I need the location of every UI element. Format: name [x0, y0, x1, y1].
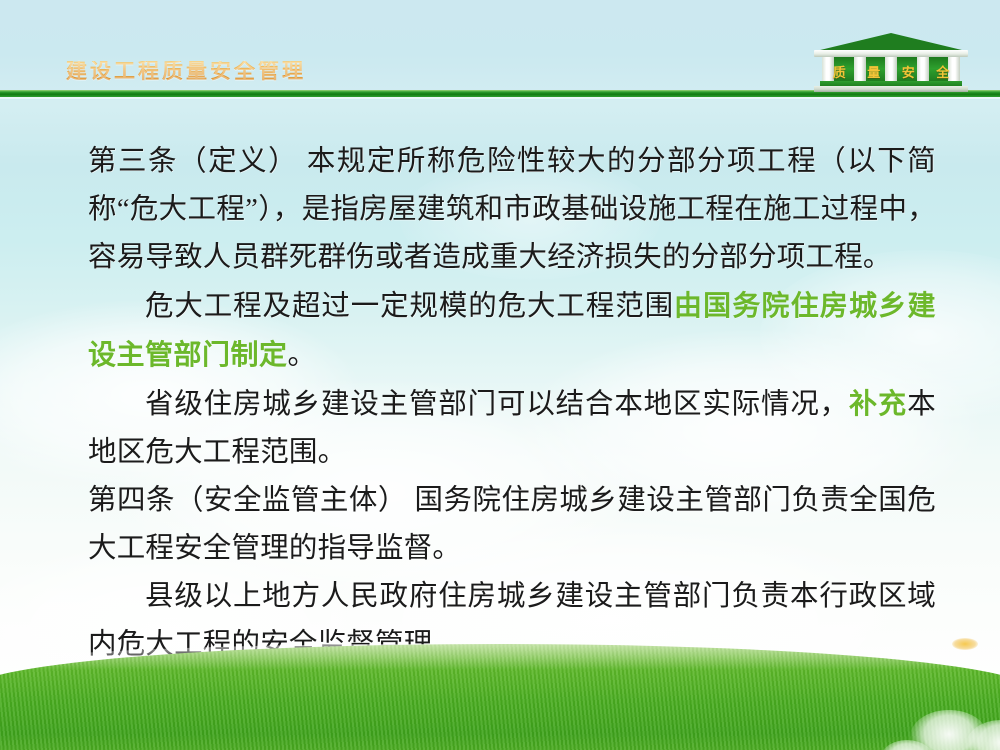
- emblem-char-1: 质: [833, 62, 846, 81]
- paragraph-provincial-supplement: 省级住房城乡建设主管部门可以结合本地区实际情况，补充本地区危大工程范围。: [88, 380, 936, 477]
- body-text: 。: [288, 340, 317, 371]
- paragraph-article-4: 第四条（安全监管主体） 国务院住房城乡建设主管部门负责全国危大工程安全管理的指导…: [88, 477, 936, 573]
- slide-body: 第三条（定义） 本规定所称危险性较大的分部分项工程（以下简称“危大工程”），是指…: [88, 138, 936, 669]
- body-text: 第三条（定义） 本规定所称危险性较大的分部分项工程（以下简称“危大工程”），是指…: [88, 146, 936, 273]
- quality-safety-emblem-icon: 质 量 安 全: [812, 33, 970, 95]
- emblem-roof-shape: [816, 33, 966, 51]
- body-text: 省级住房城乡建设主管部门可以结合本地区实际情况，: [145, 389, 849, 420]
- slide-header-title: 建设工程质量安全管理: [66, 61, 306, 82]
- presentation-slide: 建设工程质量安全管理 质 量 安 全 第三条（定义） 本规定所: [0, 0, 1000, 750]
- body-text: 第四条（安全监管主体） 国务院住房城乡建设主管部门负责全国危大工程安全管理的指导…: [88, 485, 936, 564]
- emblem-char-4: 全: [936, 62, 949, 81]
- body-text: 危大工程及超过一定规模的危大工程范围: [145, 291, 674, 322]
- sun-glow-decoration: [952, 638, 978, 650]
- grass-field-decoration: [0, 644, 1000, 750]
- emblem-char-2: 量: [867, 62, 880, 81]
- slide-header: 建设工程质量安全管理 质 量 安 全: [0, 0, 1000, 100]
- header-divider-highlight: [0, 97, 1000, 99]
- emblem-architrave-shape: [814, 50, 968, 57]
- emblem-plinth: [814, 86, 968, 92]
- emblem-char-3: 安: [902, 62, 915, 81]
- highlighted-text: 补充: [849, 387, 907, 420]
- paragraph-article-3: 第三条（定义） 本规定所称危险性较大的分部分项工程（以下简称“危大工程”），是指…: [88, 138, 936, 282]
- paragraph-scope-defined-by-state-council: 危大工程及超过一定规模的危大工程范围由国务院住房城乡建设主管部门制定。: [88, 282, 936, 380]
